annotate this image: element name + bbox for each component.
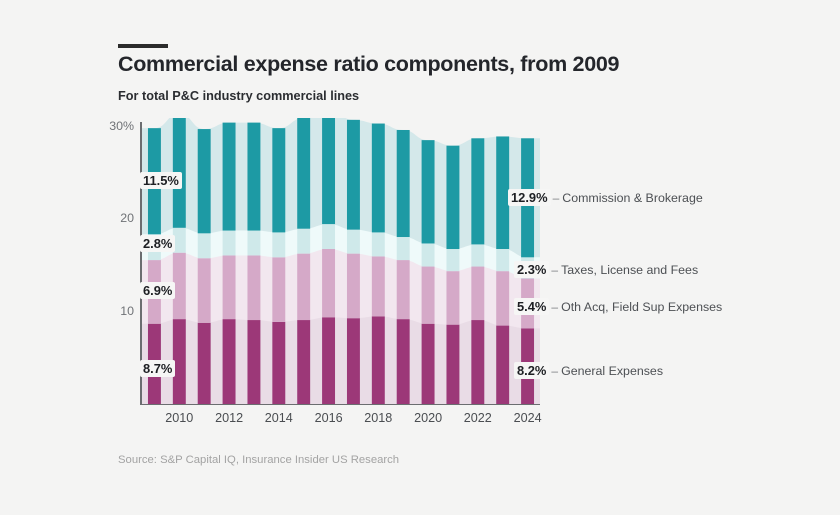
x-tick-label-2022: 2022 [464,411,492,425]
stacked-bar-chart [142,118,540,404]
legend-item-general: 8.2% – General Expenses [514,362,663,379]
legend-label: Taxes, License and Fees [561,263,698,277]
legend-item-commission: 12.9% – Commission & Brokerage [508,189,703,206]
legend-value: 5.4% [514,298,549,315]
y-tick-label-2: 10 [86,304,134,318]
page-subtitle: For total P&C industry commercial lines [118,89,359,103]
x-tick-label-2014: 2014 [265,411,293,425]
callout-oth-acq: 6.9% [140,282,175,299]
page-title: Commercial expense ratio components, fro… [118,52,619,77]
y-tick-label-1: 20 [86,211,134,225]
x-tick-label-2012: 2012 [215,411,243,425]
legend-value: 12.9% [508,189,551,206]
legend-label: Commission & Brokerage [562,191,702,205]
legend-value: 2.3% [514,261,549,278]
chart-page: Commercial expense ratio components, fro… [0,0,840,515]
legend-label: Oth Acq, Field Sup Expenses [561,300,722,314]
title-rule [118,44,168,48]
x-tick-label-2010: 2010 [165,411,193,425]
legend-dash-icon: – [551,364,558,378]
legend-item-oth-acq: 5.4% – Oth Acq, Field Sup Expenses [514,298,722,315]
legend-dash-icon: – [551,263,558,277]
callout-taxes: 2.8% [140,235,175,252]
chart-plot-area [142,118,540,404]
legend-value: 8.2% [514,362,549,379]
x-tick-label-2016: 2016 [315,411,343,425]
source-note: Source: S&P Capital IQ, Insurance Inside… [118,454,399,466]
legend-label: General Expenses [561,364,663,378]
callout-commission: 11.5% [140,172,182,189]
legend-item-taxes: 2.3% – Taxes, License and Fees [514,261,698,278]
x-tick-label-2020: 2020 [414,411,442,425]
callout-general: 8.7% [140,360,175,377]
y-tick-label-0: 30% [86,119,134,133]
x-tick-label-2018: 2018 [364,411,392,425]
legend-dash-icon: – [551,300,558,314]
legend-dash-icon: – [553,191,560,205]
x-tick-label-2024: 2024 [514,411,542,425]
